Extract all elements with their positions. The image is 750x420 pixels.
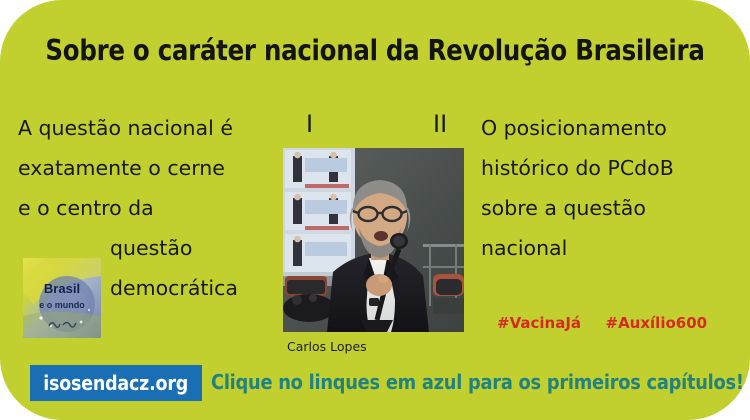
hashtag-auxilio-600[interactable]: #Auxílio600	[606, 314, 708, 332]
hashtag-group: #VacinaJá #Auxílio600	[497, 314, 707, 332]
photo-illustration	[283, 148, 464, 332]
right-text-line: nacional	[481, 228, 743, 268]
photo-caption: Carlos Lopes	[287, 339, 367, 354]
book-cover-illustration: Brasil e o mundo	[23, 258, 101, 338]
right-text-line: sobre a questão	[481, 188, 743, 228]
page-title: Sobre o caráter nacional da Revolução Br…	[17, 34, 733, 67]
call-to-action-text: Clique no linques em azul para os primei…	[211, 370, 744, 394]
right-text-line: histórico do PCdoB	[481, 148, 743, 188]
section-numeral-two: II	[433, 112, 447, 136]
hashtag-vacina-ja[interactable]: #VacinaJá	[497, 314, 581, 332]
svg-text:Brasil: Brasil	[44, 281, 80, 296]
book-cover-brasil-e-o-mundo[interactable]: Brasil e o mundo	[23, 258, 101, 338]
photo-carlos-lopes	[283, 148, 464, 332]
left-text-line: exatamente o cerne	[18, 148, 283, 188]
slide-card: Sobre o caráter nacional da Revolução Br…	[0, 0, 750, 420]
section-numeral-one: I	[306, 112, 313, 136]
left-text-line: e o centro da	[18, 188, 283, 228]
website-url-label: isosendacz.org	[44, 371, 189, 395]
website-url-button[interactable]: isosendacz.org	[30, 365, 202, 401]
left-text-line: A questão nacional é	[18, 108, 283, 148]
right-text-column: O posicionamento histórico do PCdoB sobr…	[481, 108, 743, 268]
svg-text:e o mundo: e o mundo	[39, 300, 85, 310]
right-text-line: O posicionamento	[481, 108, 743, 148]
